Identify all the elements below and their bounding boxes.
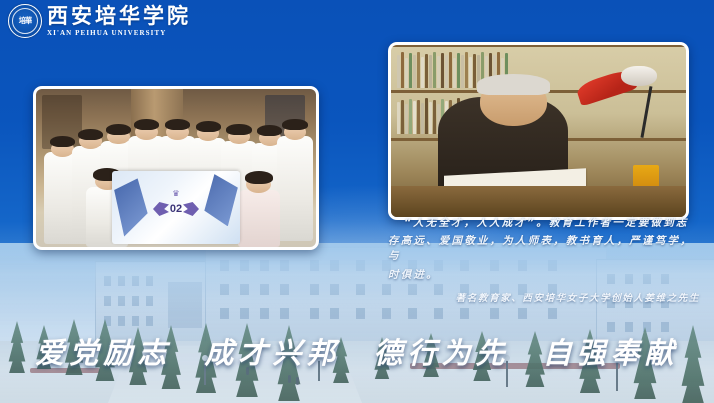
student-hair	[50, 136, 75, 147]
quote-attribution: 著名教育家、西安培华女子大学创始人姜维之先生	[388, 290, 704, 304]
student-hair	[196, 121, 221, 132]
student-hair	[78, 129, 103, 140]
photo-founder-portrait[interactable]	[388, 42, 689, 220]
student-hair	[257, 125, 282, 136]
founder-hair	[477, 74, 551, 95]
logo-name-chinese: 西安培华学院	[47, 6, 191, 27]
main-slogan: 爱党励志 成才兴邦 德行为先 自强奉献	[0, 330, 714, 372]
slide-root: 培華 西安培华学院 XI'AN PEIHUA UNIVERSITY	[0, 0, 714, 403]
student-figure	[277, 136, 313, 240]
quote-line-3: 时俱进。	[388, 268, 704, 283]
study-room	[391, 45, 686, 217]
student-figure-front	[238, 190, 280, 247]
student-hair	[226, 124, 251, 135]
desk-surface	[391, 186, 686, 217]
banner-number: 02	[170, 203, 182, 215]
desk-lamp-arm	[640, 86, 652, 137]
wing-right-icon	[183, 202, 199, 216]
photo-students-group[interactable]: ♛ 02	[33, 86, 319, 250]
student-hair	[165, 119, 190, 130]
quote-line-2: 存高远、爱国敬业，为人师表，教书育人，严谨笃学，与	[388, 234, 704, 264]
slogan-part-2: 成才兴邦	[204, 336, 340, 370]
wing-left-icon	[153, 202, 169, 216]
logo-text-block: 西安培华学院 XI'AN PEIHUA UNIVERSITY	[47, 6, 191, 37]
founder-quote-block: “人无全才，人人成才”。教育工作者一定要做到志 存高远、爱国敬业，为人师表，教书…	[388, 216, 704, 304]
slogan-part-3: 德行为先	[374, 336, 510, 370]
student-hair	[106, 124, 131, 135]
logo-name-english: XI'AN PEIHUA UNIVERSITY	[47, 30, 191, 37]
student-hair	[134, 119, 159, 130]
desk-lamp-bulb	[621, 66, 656, 87]
university-seal-icon: 培華	[8, 4, 42, 38]
slogan-part-1: 爱党励志	[35, 336, 171, 370]
slogan-part-4: 自强奉献	[543, 336, 679, 370]
student-hair	[245, 171, 273, 184]
quote-line-1: “人无全才，人人成才”。教育工作者一定要做到志	[388, 216, 704, 231]
banner-emblem: ♛ 02	[153, 196, 199, 222]
student-hair	[282, 119, 307, 130]
crown-icon: ♛	[172, 189, 179, 198]
university-logo: 培華 西安培华学院 XI'AN PEIHUA UNIVERSITY	[8, 4, 191, 38]
class-banner: ♛ 02	[112, 171, 241, 244]
seal-glyph: 培華	[19, 17, 32, 24]
